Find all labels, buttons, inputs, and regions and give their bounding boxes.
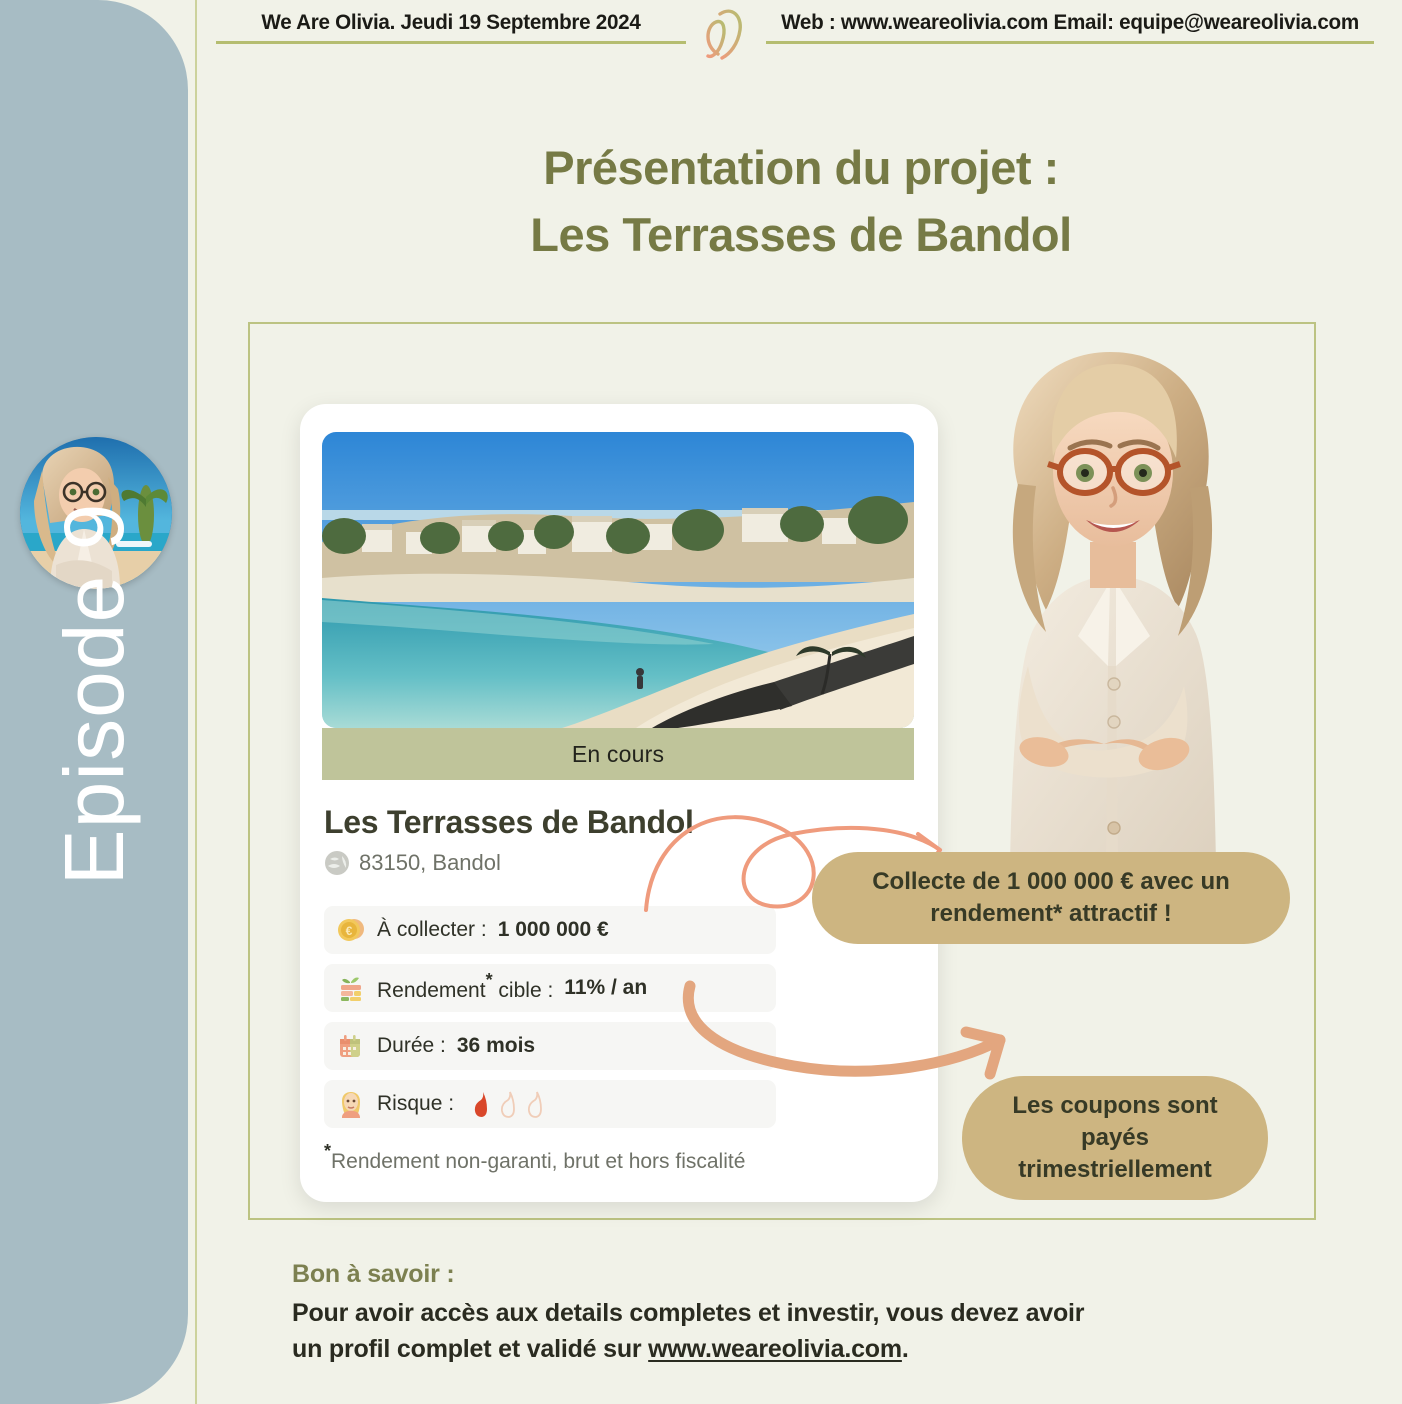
globe-icon: [324, 850, 350, 876]
card-row-risque: Risque :: [324, 1080, 776, 1128]
card-row-rendement: Rendement* cible : 11% / an: [324, 964, 776, 1012]
sidebar-episode-label: Episode 9: [0, 314, 188, 1074]
callout-coupons-line3: trimestriellement: [1018, 1156, 1211, 1183]
card-row-label: À collecter :: [377, 918, 487, 942]
page-header: We Are Olivia. Jeudi 19 Septembre 2024 W…: [188, 0, 1402, 62]
callout-coupons-line1: Les coupons sont: [1012, 1092, 1217, 1119]
project-photo: [322, 432, 914, 728]
header-right: Web : www.weareolivia.com Email: equipe@…: [766, 10, 1374, 44]
risk-level-indicator: [469, 1090, 543, 1118]
footer-heading: Bon à savoir :: [292, 1260, 1302, 1289]
coin-euro-icon: €: [336, 915, 366, 945]
olivia-swirl-icon: [688, 2, 762, 62]
chili-empty-icon: [496, 1090, 516, 1118]
footer-line2-suffix: .: [902, 1335, 909, 1363]
page-title: Présentation du projet : Les Terrasses d…: [200, 134, 1402, 268]
sidebar: Episode 9: [0, 0, 188, 1404]
header-left: We Are Olivia. Jeudi 19 Septembre 2024: [216, 10, 686, 44]
svg-text:€: €: [346, 924, 353, 938]
card-row-value: 1 000 000 €: [498, 918, 609, 942]
callout-collecte-line1: Collecte de 1 000 000 € avec un: [872, 868, 1230, 895]
callout-collecte: Collecte de 1 000 000 € avec un rendemen…: [812, 852, 1290, 944]
card-location: 83150, Bandol: [324, 850, 501, 876]
poster-root: Episode 9 We Are Olivia. Jeudi 19 Septem…: [0, 0, 1402, 1404]
card-row-label: Risque :: [377, 1092, 454, 1116]
card-disclaimer: *Rendement non-garanti, brut et hors fis…: [324, 1144, 745, 1174]
footer-line1: Pour avoir accès aux details completes e…: [292, 1299, 1084, 1327]
footer-line2-prefix: un profil complet et validé sur: [292, 1335, 648, 1363]
card-row-label: Durée :: [377, 1034, 446, 1058]
page-title-line1: Présentation du projet :: [200, 134, 1402, 201]
growth-bars-icon: [336, 973, 366, 1003]
header-left-rule: [216, 41, 686, 44]
header-contact-text: Web : www.weareolivia.com Email: equipe@…: [778, 10, 1362, 35]
callout-coupons: Les coupons sont payés trimestriellement: [962, 1076, 1268, 1200]
header-right-rule: [766, 41, 1374, 44]
status-badge: En cours: [322, 728, 914, 780]
project-card[interactable]: En cours Les Terrasses de Bandol 83150, …: [300, 404, 938, 1202]
asterisk-marker: *: [486, 970, 493, 990]
chili-filled-icon: [469, 1090, 489, 1118]
card-row-label: Rendement* cible :: [377, 973, 553, 1003]
page-title-line2: Les Terrasses de Bandol: [200, 201, 1402, 268]
card-location-text: 83150, Bandol: [359, 850, 501, 876]
chili-empty-icon: [523, 1090, 543, 1118]
sidebar-divider-line: [195, 0, 197, 1404]
calendar-icon: [336, 1031, 366, 1061]
callout-collecte-line2: rendement* attractif !: [930, 900, 1171, 927]
olivia-character-illustration: [958, 336, 1268, 864]
card-project-name: Les Terrasses de Bandol: [324, 804, 694, 841]
footer-link[interactable]: www.weareolivia.com: [648, 1335, 902, 1363]
asterisk-marker: *: [324, 1141, 331, 1161]
header-date-text: We Are Olivia. Jeudi 19 Septembre 2024: [225, 10, 676, 35]
card-row-collecter: € À collecter : 1 000 000 €: [324, 906, 776, 954]
footer-body: Pour avoir accès aux details completes e…: [292, 1295, 1302, 1368]
risk-person-icon: [336, 1089, 366, 1119]
card-row-value: 11% / an: [564, 976, 647, 1000]
card-row-value: 36 mois: [457, 1034, 535, 1058]
callout-coupons-line2: payés: [1081, 1124, 1149, 1151]
footer-note: Bon à savoir : Pour avoir accès aux deta…: [292, 1260, 1302, 1368]
card-row-duree: Durée : 36 mois: [324, 1022, 776, 1070]
